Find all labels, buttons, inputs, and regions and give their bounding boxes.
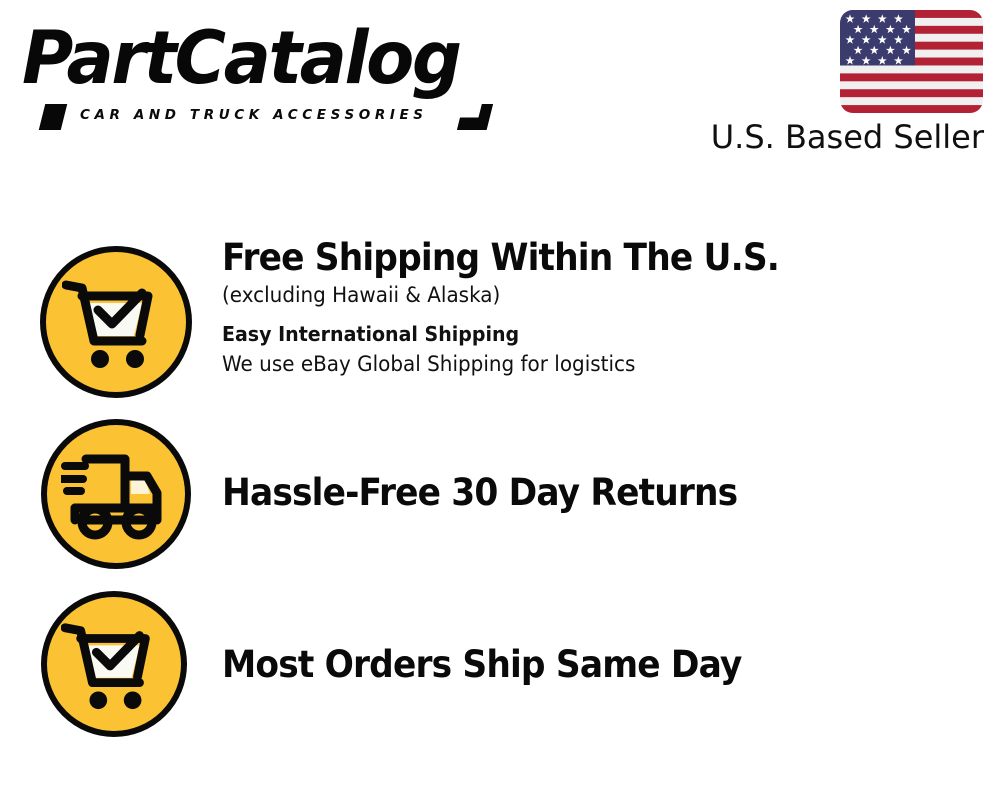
logo-accent-left xyxy=(39,104,67,130)
us-based-seller-label: U.S. Based Seller xyxy=(711,118,984,156)
feature-text-free-shipping: Free Shipping Within The U.S. (excluding… xyxy=(222,236,821,379)
delivery-truck-icon xyxy=(41,419,191,569)
feature-row-returns xyxy=(41,419,191,569)
logo-accent-right xyxy=(457,104,493,130)
feature-sub-ebay-logistics: We use eBay Global Shipping for logistic… xyxy=(222,349,791,379)
feature-text-returns: Hassle-Free 30 Day Returns xyxy=(222,471,776,515)
feature-title-returns: Hassle-Free 30 Day Returns xyxy=(222,471,737,515)
spacer xyxy=(222,310,821,319)
us-flag-icon xyxy=(840,10,983,113)
brand-logo: PartCatalog CAR AND TRUCK ACCESSORIES xyxy=(22,18,492,118)
feature-row-free-shipping xyxy=(40,246,192,398)
brand-wordmark: PartCatalog xyxy=(22,18,460,100)
feature-text-same-day: Most Orders Ship Same Day xyxy=(222,643,781,687)
feature-title-free-shipping: Free Shipping Within The U.S. xyxy=(222,236,779,280)
brand-tagline: CAR AND TRUCK ACCESSORIES xyxy=(80,107,428,123)
feature-sub-excluding: (excluding Hawaii & Alaska) xyxy=(222,280,791,310)
promo-banner: PartCatalog CAR AND TRUCK ACCESSORIES xyxy=(0,0,1000,800)
feature-row-same-day xyxy=(41,591,187,737)
feature-title-same-day: Most Orders Ship Same Day xyxy=(222,643,742,687)
feature-sub-international-heading: Easy International Shipping xyxy=(222,319,791,349)
shopping-cart-check-icon xyxy=(40,246,192,398)
shopping-cart-check-icon xyxy=(41,591,187,737)
